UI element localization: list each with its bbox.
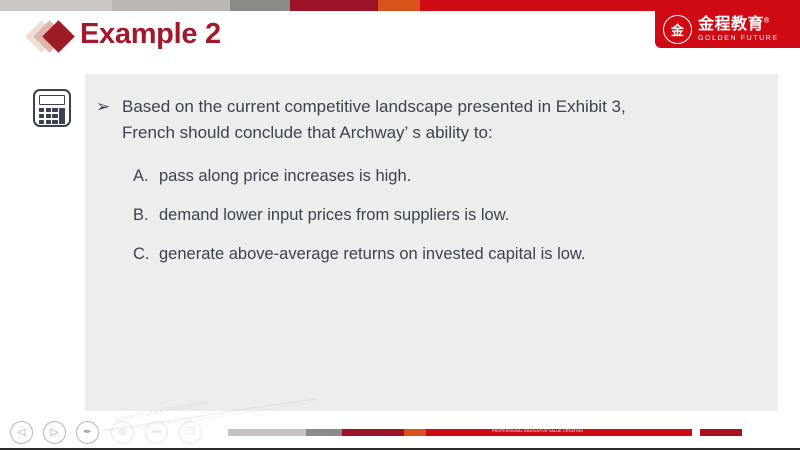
progress-bar[interactable]: PROFESSIONAL INNOVATIVE VALUE CREATING (228, 428, 788, 436)
progress-segment-2 (342, 429, 404, 436)
progress-segment-6 (700, 429, 742, 436)
option-b[interactable]: B. demand lower input prices from suppli… (133, 203, 758, 228)
slide-canvas: Example 2 金 金程教育® GOLDEN FUTURE ➢ Based … (0, 11, 800, 415)
logo-chinese-name: 金程教育 (698, 16, 764, 33)
stem-line-1: Based on the current competitive landsca… (122, 94, 750, 120)
top-stripe-segment-3 (290, 0, 378, 11)
top-stripe-segment-2 (230, 0, 290, 11)
pen-annotate-button[interactable]: ✒ (76, 421, 99, 444)
top-stripe-segment-0 (0, 0, 112, 11)
page-title: Example 2 (80, 18, 221, 51)
option-c-label: generate above-average returns on invest… (159, 242, 758, 267)
option-c-letter: C. (133, 242, 159, 267)
next-slide-button[interactable]: ▷ (43, 421, 66, 444)
slide-header: Example 2 金 金程教育® GOLDEN FUTURE (0, 11, 800, 56)
previous-slide-button[interactable]: ◁ (10, 421, 33, 444)
option-b-label: demand lower input prices from suppliers… (159, 203, 758, 228)
option-c[interactable]: C. generate above-average returns on inv… (133, 242, 758, 267)
diamond-mark-icon (30, 19, 78, 55)
calculator-icon (33, 89, 71, 127)
bullet-arrow-icon: ➢ (93, 94, 122, 147)
laser-pointer-button[interactable]: ⊕ (111, 421, 134, 444)
golden-future-seal-icon: 金 (663, 15, 692, 44)
option-b-letter: B. (133, 203, 159, 228)
brand-logo: 金 金程教育® GOLDEN FUTURE (655, 11, 800, 48)
progress-segment-3 (404, 429, 426, 436)
progress-segment-1 (306, 429, 342, 436)
logo-english-name: GOLDEN FUTURE (698, 35, 779, 42)
option-a[interactable]: A. pass along price increases is high. (133, 164, 758, 189)
answer-options: A. pass along price increases is high. B… (133, 164, 758, 280)
progress-tagline: PROFESSIONAL INNOVATIVE VALUE CREATING (492, 428, 583, 435)
content-panel: ➢ Based on the current competitive lands… (85, 74, 778, 411)
present-screen-button[interactable]: ❐ (179, 421, 202, 444)
option-a-label: pass along price increases is high. (159, 164, 758, 189)
stem-line-2: French should conclude that Archway’ s a… (122, 120, 750, 146)
option-a-letter: A. (133, 164, 159, 189)
top-decorative-stripe (0, 0, 800, 11)
registered-mark: ® (764, 18, 770, 25)
top-stripe-segment-1 (112, 0, 230, 11)
progress-segment-0 (228, 429, 306, 436)
player-control-bar: ◁▷✒⊕•••❐ PROFESSIONAL INNOVATIVE VALUE C… (0, 415, 800, 450)
progress-segment-5 (692, 429, 700, 436)
top-stripe-segment-5 (420, 0, 800, 11)
more-options-button[interactable]: ••• (145, 421, 168, 444)
top-stripe-segment-4 (378, 0, 420, 11)
question-stem: ➢ Based on the current competitive lands… (93, 94, 758, 147)
